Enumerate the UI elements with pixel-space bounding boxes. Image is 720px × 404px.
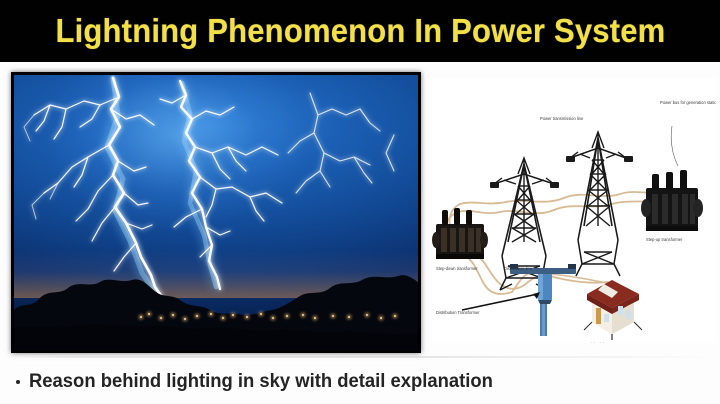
- content-divider: [0, 356, 720, 358]
- label-distribution-transformer: Distribution Transformer: [436, 310, 480, 315]
- label-step-down-transformer: Step-down transformer: [436, 266, 478, 271]
- bullet-row: Reason behind lighting in sky with detai…: [0, 360, 720, 404]
- label-step-up-transformer: Step-up transformer: [646, 237, 683, 242]
- slide-root: Lightning Phenomenon In Power System: [0, 0, 720, 404]
- city-lights: [14, 306, 418, 322]
- title-banner: Lightning Phenomenon In Power System: [0, 0, 720, 62]
- residential-house: [584, 280, 642, 340]
- step-down-transformer: [432, 208, 488, 259]
- label-residential-consumer: Residential consumer: [584, 342, 624, 343]
- label-power-bus: Power bus for generation station: [660, 100, 716, 105]
- treeline-silhouette: [14, 258, 418, 350]
- diagram-canvas: Power transmission line Power bus for ge…: [432, 78, 716, 343]
- transmission-tower-right: [570, 132, 626, 276]
- step-up-transformer: [641, 170, 703, 231]
- lightning-photo: [14, 75, 418, 350]
- power-system-diagram: Power transmission line Power bus for ge…: [432, 78, 716, 343]
- bullet-marker-icon: [16, 380, 20, 384]
- page-title: Lightning Phenomenon In Power System: [55, 12, 665, 50]
- label-distribution-line: Distribution line: [504, 266, 533, 271]
- lightning-photo-frame: [11, 72, 421, 353]
- label-transmission-line: Power transmission line: [540, 116, 584, 121]
- bullet-text: Reason behind lighting in sky with detai…: [29, 371, 493, 393]
